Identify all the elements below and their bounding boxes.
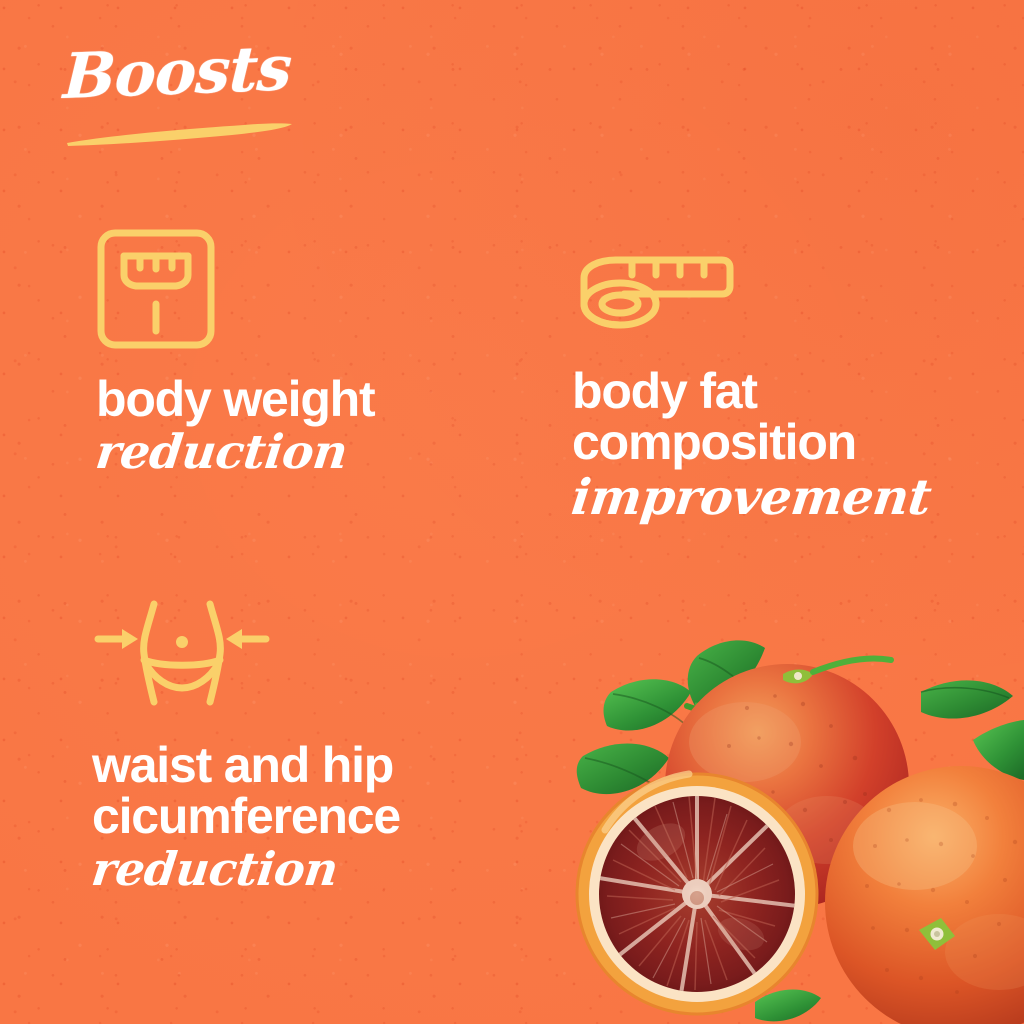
heading-underline-stroke — [64, 118, 296, 148]
feature-waist-hip-line2: reduction — [89, 844, 545, 896]
feature-body-fat-line1: body fat — [572, 366, 992, 417]
feature-waist-hip: waist and hip cicumference reduction — [92, 598, 542, 896]
feature-body-weight: body weight reduction — [96, 228, 526, 480]
feature-body-fat-line2: improvement — [569, 470, 996, 525]
feature-body-fat: body fat composition improvement — [572, 250, 992, 525]
measuring-tape-icon — [572, 250, 737, 332]
feature-body-fat-line1b: composition — [572, 417, 992, 468]
feature-body-weight-labels: body weight reduction — [96, 374, 526, 480]
feature-body-fat-labels: body fat composition improvement — [572, 366, 992, 525]
feature-waist-hip-line1: waist and hip — [92, 740, 542, 791]
blood-oranges-photo — [569, 634, 1024, 1024]
feature-waist-hip-line1b: cicumference — [92, 791, 542, 842]
feature-body-weight-line1: body weight — [96, 374, 526, 425]
bathroom-scale-icon — [96, 228, 216, 350]
slim-waist-icon — [92, 598, 272, 708]
feature-body-weight-line2: reduction — [93, 427, 529, 480]
feature-waist-hip-labels: waist and hip cicumference reduction — [92, 740, 542, 896]
page-title: Boosts — [62, 37, 292, 108]
heading-group: Boosts — [62, 46, 290, 108]
poster-canvas: Boosts body weight reduction body — [0, 0, 1024, 1024]
